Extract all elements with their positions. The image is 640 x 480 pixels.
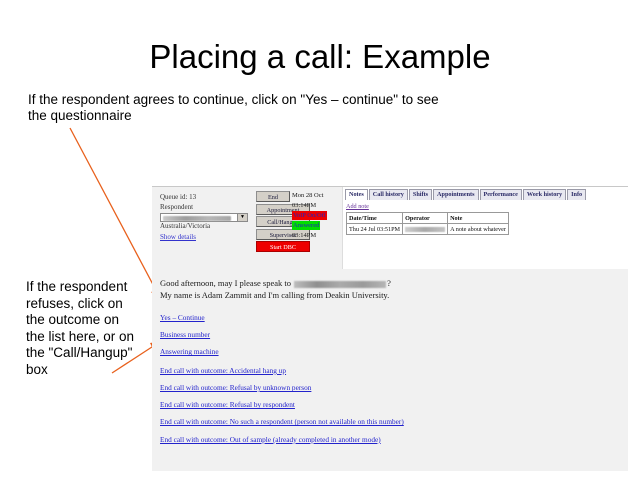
annotation-left-text: If the respondent refuses, click on the … bbox=[26, 279, 138, 378]
call-control-strip: Queue id: 13 Respondent ▼ Australia/Vict… bbox=[152, 187, 628, 269]
column-header-operator: Operator bbox=[403, 213, 448, 224]
outcome-link-out-of-sample[interactable]: End call with outcome: Out of sample (al… bbox=[160, 435, 600, 444]
operator-redacted bbox=[405, 227, 445, 232]
tab-notes[interactable]: Notes bbox=[345, 189, 368, 200]
column-header-datetime: Date/Time bbox=[347, 213, 403, 224]
outcome-links-list: Yes – Continue Business number Answering… bbox=[160, 313, 600, 452]
table-row[interactable]: Thu 24 Jul 03:51PM A note about whatever bbox=[347, 224, 509, 235]
embedded-app-screenshot: Queue id: 13 Respondent ▼ Australia/Vict… bbox=[152, 186, 628, 471]
outcome-link-refusal-unknown-person[interactable]: End call with outcome: Refusal by unknow… bbox=[160, 383, 600, 392]
queue-id-label: Queue id: 13 bbox=[160, 193, 196, 201]
answered-status-badge: Answered bbox=[292, 221, 320, 230]
voip-status-badge[interactable]: VoIP On/Off bbox=[292, 211, 327, 220]
call-status-block: Mon 28 Oct 03:14PM VoIP On/Off Answered … bbox=[292, 191, 348, 241]
chevron-down-icon[interactable]: ▼ bbox=[237, 214, 247, 221]
outcome-link-yes-continue[interactable]: Yes – Continue bbox=[160, 313, 600, 322]
tab-shifts[interactable]: Shifts bbox=[409, 189, 432, 200]
outcome-link-refusal-by-respondent[interactable]: End call with outcome: Refusal by respon… bbox=[160, 400, 600, 409]
status-time-top: 03:14PM bbox=[292, 201, 348, 211]
call-script-area: Good afternoon, may I please speak to ? … bbox=[152, 277, 628, 471]
add-note-link[interactable]: Add note bbox=[346, 203, 628, 210]
cell-operator bbox=[403, 224, 448, 235]
arrow-top-to-yes-continue bbox=[70, 128, 162, 302]
tab-appointments[interactable]: Appointments bbox=[433, 189, 478, 200]
outcome-link-business-number[interactable]: Business number bbox=[160, 330, 600, 339]
start-dbc-button[interactable]: Start DBC bbox=[256, 241, 310, 252]
outcome-link-no-such-respondent[interactable]: End call with outcome: No such a respond… bbox=[160, 417, 600, 426]
notes-table: Date/Time Operator Note Thu 24 Jul 03:51… bbox=[346, 212, 509, 235]
script-line2: My name is Adam Zammit and I'm calling f… bbox=[160, 290, 389, 300]
table-header-row: Date/Time Operator Note bbox=[347, 213, 509, 224]
script-text: Good afternoon, may I please speak to ? … bbox=[160, 277, 560, 301]
outcome-link-answering-machine[interactable]: Answering machine bbox=[160, 347, 600, 356]
page-title: Placing a call: Example bbox=[0, 38, 640, 76]
cell-datetime: Thu 24 Jul 03:51PM bbox=[347, 224, 403, 235]
tab-performance[interactable]: Performance bbox=[480, 189, 522, 200]
tab-info[interactable]: Info bbox=[567, 189, 586, 200]
column-header-note: Note bbox=[448, 213, 509, 224]
tab-call-history[interactable]: Call history bbox=[369, 189, 408, 200]
script-line1-prefix: Good afternoon, may I please speak to bbox=[160, 278, 293, 288]
timezone-label: Australia/Victoria bbox=[160, 222, 210, 230]
status-time-bottom: 03:14PM bbox=[292, 231, 348, 241]
show-details-link[interactable]: Show details bbox=[160, 233, 252, 243]
respondent-tab-panel: Notes Call history Shifts Appointments P… bbox=[342, 187, 628, 269]
respondent-select[interactable]: ▼ bbox=[160, 213, 248, 222]
queue-info-block: Queue id: 13 Respondent ▼ Australia/Vict… bbox=[160, 193, 252, 242]
respondent-label: Respondent bbox=[160, 203, 193, 211]
end-button[interactable]: End bbox=[256, 191, 290, 202]
respondent-name-redacted bbox=[163, 216, 231, 221]
tab-work-history[interactable]: Work history bbox=[523, 189, 566, 200]
respondent-name-redacted-inline bbox=[294, 281, 386, 288]
annotation-top-text: If the respondent agrees to continue, cl… bbox=[28, 92, 458, 124]
outcome-link-accidental-hang-up[interactable]: End call with outcome: Accidental hang u… bbox=[160, 366, 600, 375]
script-line1-suffix: ? bbox=[387, 278, 391, 288]
status-date: Mon 28 Oct bbox=[292, 191, 348, 201]
tab-bar: Notes Call history Shifts Appointments P… bbox=[345, 189, 628, 200]
cell-note: A note about whatever bbox=[448, 224, 509, 235]
